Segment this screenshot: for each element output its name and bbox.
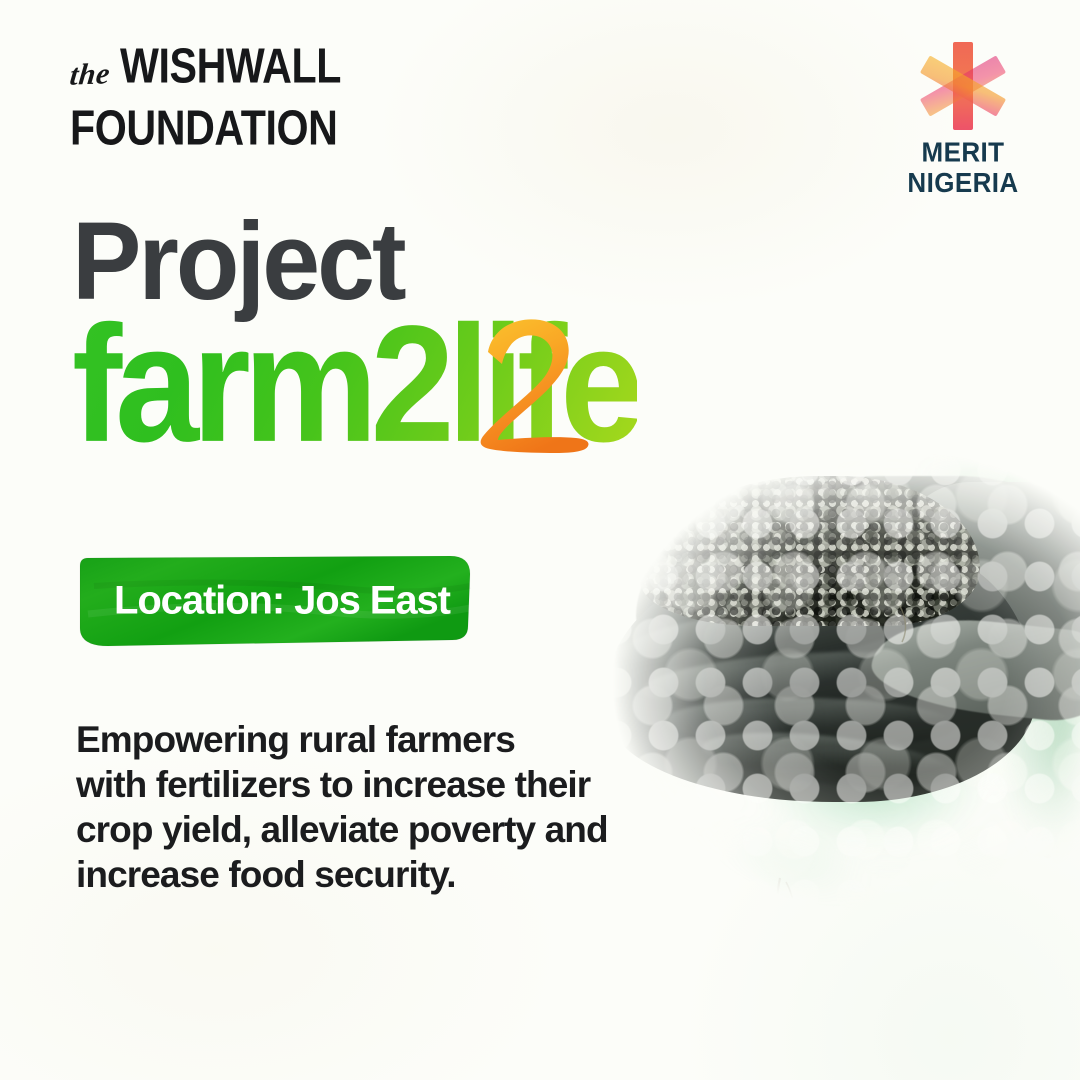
dangling-roots	[584, 430, 1080, 990]
hands-soil-photo	[584, 430, 1080, 990]
farm2life-text: farm2life	[72, 302, 637, 468]
description-line: with fertilizers to increase their	[76, 763, 686, 808]
merit-asterisk-icon	[907, 38, 1019, 134]
brand-the-script: the	[68, 57, 112, 92]
description-line: increase food security.	[76, 853, 686, 898]
location-badge[interactable]: Location: Jos East	[78, 556, 478, 648]
description-paragraph: Empowering rural farmers with fertilizer…	[76, 718, 686, 898]
description-line: crop yield, alleviate poverty and	[76, 808, 686, 853]
merit-nigeria-logo: MERIT NIGERIA	[903, 38, 1023, 195]
merit-line2: NIGERIA	[903, 168, 1023, 198]
poster-canvas: the WISHWALL FOUNDATION	[0, 0, 1080, 1080]
location-badge-label: Location: Jos East	[114, 579, 450, 624]
brand-wishwall: WISHWALL	[120, 44, 341, 90]
farm2life-wordmark: farm2life	[72, 302, 812, 472]
brand-foundation: FOUNDATION	[70, 106, 337, 152]
wishwall-foundation-logo: the WISHWALL FOUNDATION	[70, 52, 334, 152]
hands-illustration	[584, 430, 1080, 990]
headline-block: Project farm2life	[72, 212, 812, 472]
merit-nigeria-name: MERIT NIGERIA	[903, 138, 1023, 198]
merit-line1: MERIT	[903, 138, 1023, 168]
description-line: Empowering rural farmers	[76, 718, 686, 763]
